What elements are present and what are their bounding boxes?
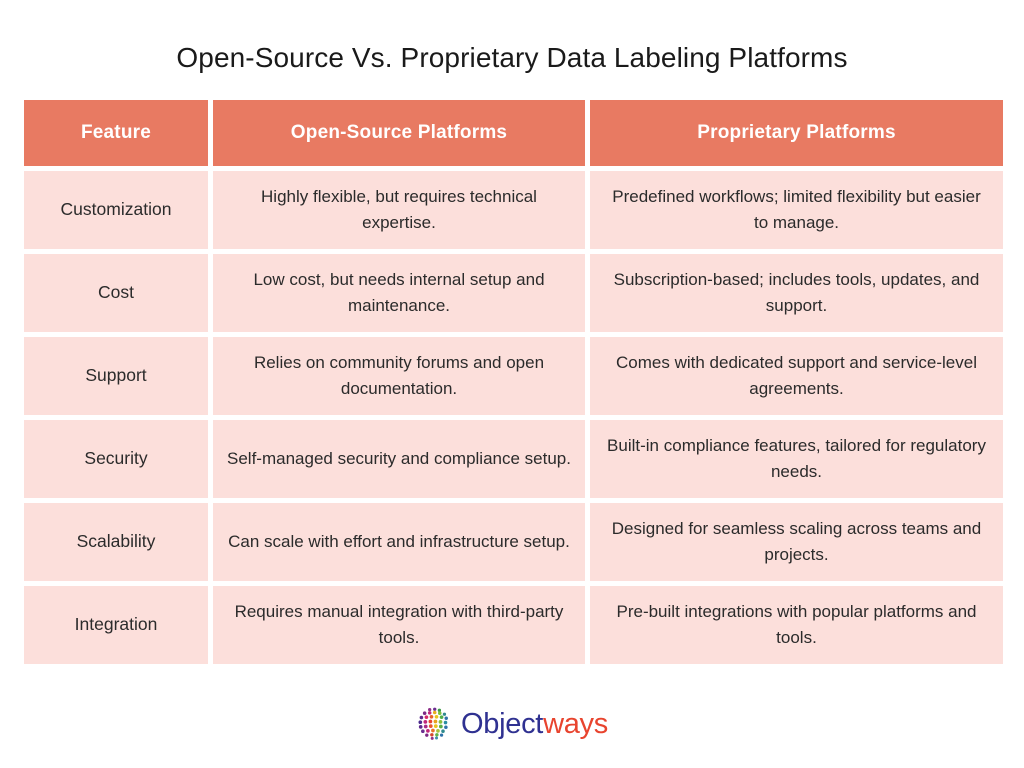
cell-feature: Scalability (24, 503, 208, 581)
cell-proprietary: Comes with dedicated support and service… (590, 337, 1003, 415)
column-header-proprietary-label: Proprietary Platforms (697, 122, 896, 144)
cell-feature-text: Scalability (77, 528, 156, 555)
cell-feature-text: Integration (75, 611, 158, 638)
page-title: Open-Source Vs. Proprietary Data Labelin… (0, 42, 1024, 74)
column-header-proprietary: Proprietary Platforms (590, 100, 1003, 166)
cell-feature-text: Customization (61, 196, 172, 223)
cell-proprietary-text: Built-in compliance features, tailored f… (604, 433, 989, 486)
cell-proprietary: Predefined workflows; limited flexibilit… (590, 171, 1003, 249)
cell-proprietary-text: Comes with dedicated support and service… (604, 350, 989, 403)
cell-feature: Integration (24, 586, 208, 664)
dotted-sphere-icon (416, 706, 452, 742)
table-header-row: Feature Open-Source Platforms Proprietar… (24, 100, 1003, 166)
table-row: Security Self-managed security and compl… (24, 420, 1003, 498)
cell-open-source: Self-managed security and compliance set… (213, 420, 585, 498)
column-header-open-source-label: Open-Source Platforms (291, 122, 507, 144)
table-row: Scalability Can scale with effort and in… (24, 503, 1003, 581)
cell-open-source: Low cost, but needs internal setup and m… (213, 254, 585, 332)
cell-proprietary-text: Predefined workflows; limited flexibilit… (604, 184, 989, 237)
cell-feature: Cost (24, 254, 208, 332)
column-header-feature-label: Feature (81, 122, 151, 144)
cell-proprietary: Subscription-based; includes tools, upda… (590, 254, 1003, 332)
cell-open-source-text: Low cost, but needs internal setup and m… (227, 267, 571, 320)
logo-text-object: Object (461, 708, 543, 740)
cell-open-source-text: Self-managed security and compliance set… (227, 446, 571, 472)
cell-open-source-text: Can scale with effort and infrastructure… (228, 529, 570, 555)
cell-feature: Support (24, 337, 208, 415)
cell-feature-text: Support (85, 362, 146, 389)
cell-open-source: Can scale with effort and infrastructure… (213, 503, 585, 581)
table-row: Customization Highly flexible, but requi… (24, 171, 1003, 249)
footer-logo: Objectways (0, 706, 1024, 742)
table-row: Integration Requires manual integration … (24, 586, 1003, 664)
cell-open-source: Relies on community forums and open docu… (213, 337, 585, 415)
cell-open-source-text: Requires manual integration with third-p… (227, 599, 571, 652)
logo-wordmark: Objectways (461, 710, 608, 739)
logo-text-ways: ways (543, 708, 608, 740)
cell-feature-text: Security (84, 445, 147, 472)
cell-open-source-text: Highly flexible, but requires technical … (227, 184, 571, 237)
infographic-page: Open-Source Vs. Proprietary Data Labelin… (0, 0, 1024, 768)
cell-open-source: Highly flexible, but requires technical … (213, 171, 585, 249)
cell-proprietary-text: Designed for seamless scaling across tea… (604, 516, 989, 569)
comparison-table: Feature Open-Source Platforms Proprietar… (24, 100, 1003, 669)
cell-proprietary: Designed for seamless scaling across tea… (590, 503, 1003, 581)
cell-feature: Customization (24, 171, 208, 249)
cell-proprietary: Built-in compliance features, tailored f… (590, 420, 1003, 498)
table-row: Cost Low cost, but needs internal setup … (24, 254, 1003, 332)
cell-proprietary: Pre-built integrations with popular plat… (590, 586, 1003, 664)
column-header-feature: Feature (24, 100, 208, 166)
cell-feature: Security (24, 420, 208, 498)
cell-open-source: Requires manual integration with third-p… (213, 586, 585, 664)
column-header-open-source: Open-Source Platforms (213, 100, 585, 166)
cell-proprietary-text: Subscription-based; includes tools, upda… (604, 267, 989, 320)
table-row: Support Relies on community forums and o… (24, 337, 1003, 415)
cell-feature-text: Cost (98, 279, 134, 306)
cell-proprietary-text: Pre-built integrations with popular plat… (604, 599, 989, 652)
cell-open-source-text: Relies on community forums and open docu… (227, 350, 571, 403)
